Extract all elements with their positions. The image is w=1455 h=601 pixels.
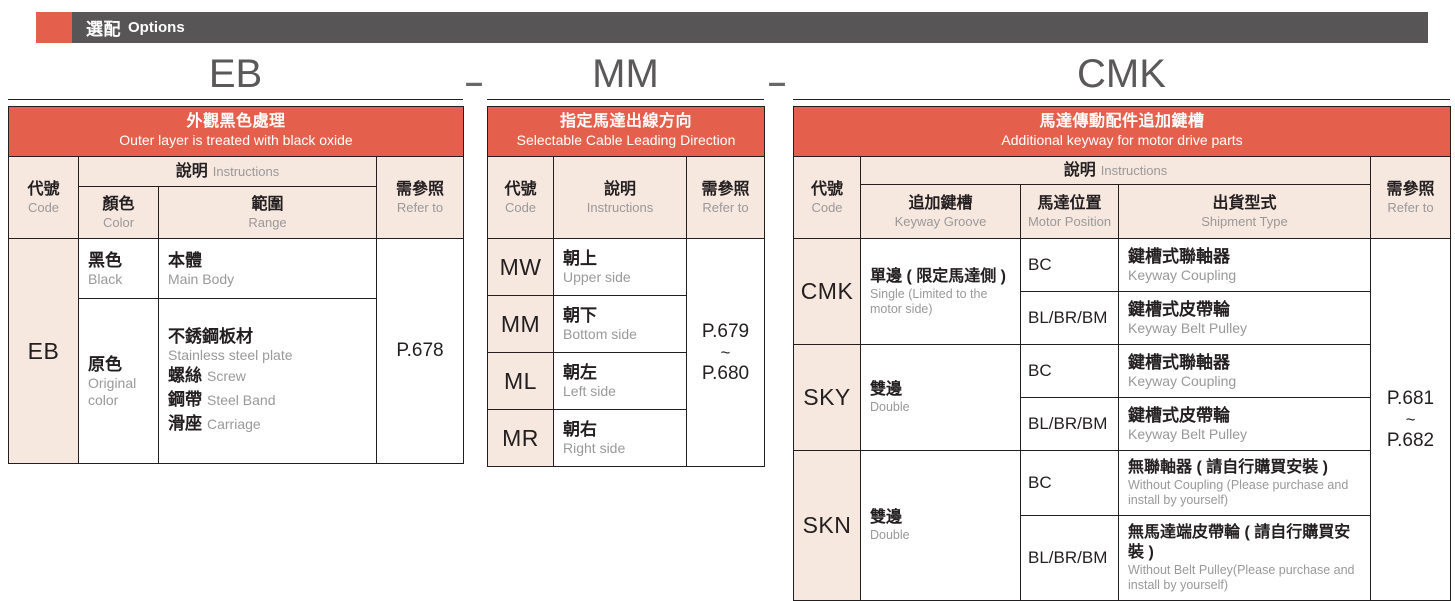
header-cmk-code-en: Code	[797, 200, 857, 216]
cell-cmk-shipment-3-2: 無馬達端皮帶輪 ( 請自行購買安裝 ) Without Belt Pulley(…	[1119, 516, 1371, 601]
header-eb-range: 範圍 Range	[159, 187, 377, 239]
header-cmk-shipment: 出貨型式 Shipment Type	[1119, 185, 1371, 239]
section-title-zh: 選配	[86, 15, 121, 40]
header-eb-instructions-en: Instructions	[213, 164, 279, 179]
cell-eb-range-2-en: Stainless steel plate	[168, 347, 367, 364]
header-mm-code-zh: 代號	[491, 180, 550, 200]
header-eb-range-en: Range	[162, 215, 373, 231]
table-mm-header-row: 代號 Code 說明 Instructions 需參照 Refer to	[488, 157, 765, 239]
table-eb-header-row-1: 代號 Code 說明Instructions 需參照 Refer to	[9, 157, 464, 187]
header-eb-refer: 需參照 Refer to	[377, 157, 464, 239]
cell-eb-range-1: 本體 Main Body	[159, 239, 377, 299]
cell-cmk-shipment-1-1: 鍵槽式聯軸器 Keyway Coupling	[1119, 239, 1371, 292]
header-eb-code-en: Code	[12, 200, 75, 216]
table-row: SKY 雙邊 Double BC 鍵槽式聯軸器 Keyway Coupling	[794, 345, 1451, 398]
cell-mm-refer-to: P.680	[702, 363, 749, 384]
code-title-mm: MM	[487, 50, 764, 98]
cell-cmk-motorpos-1-2: BL/BR/BM	[1021, 292, 1119, 345]
cell-mm-refer-tilde: ~	[687, 344, 764, 362]
table-eb: 外觀黑色處理 Outer layer is treated with black…	[8, 106, 464, 464]
table-mm-band-row: 指定馬達出線方向 Selectable Cable Leading Direct…	[488, 107, 765, 157]
table-mm-band-zh: 指定馬達出線方向	[492, 112, 760, 132]
header-cmk-shipment-en: Shipment Type	[1122, 214, 1367, 230]
cell-cmk-refer: P.681 ~ P.682	[1371, 239, 1451, 601]
code-title-cmk: CMK	[793, 50, 1450, 98]
table-mm-band-en: Selectable Cable Leading Direction	[492, 132, 760, 149]
cell-eb-color-2: 原色 Original color	[79, 299, 159, 464]
header-cmk-motor-position-zh: 馬達位置	[1024, 194, 1115, 214]
cell-cmk-refer-from: P.681	[1387, 388, 1434, 409]
cell-eb-color-1-en: Black	[88, 271, 149, 288]
header-mm-refer: 需參照 Refer to	[687, 157, 765, 239]
header-eb-color-zh: 顏色	[82, 195, 155, 215]
header-mm-instructions-en: Instructions	[557, 200, 683, 216]
cell-mm-refer-from: P.679	[702, 321, 749, 342]
code-title-underline-eb	[8, 99, 463, 100]
cell-cmk-motorpos-1-1: BC	[1021, 239, 1119, 292]
header-eb-code: 代號 Code	[9, 157, 79, 239]
table-mm: 指定馬達出線方向 Selectable Cable Leading Direct…	[487, 106, 765, 467]
header-eb-instructions-zh: 說明	[176, 163, 208, 180]
header-cmk-shipment-zh: 出貨型式	[1122, 194, 1367, 214]
cell-mm-code-3: ML	[488, 353, 554, 410]
table-cmk-band-en: Additional keyway for motor drive parts	[798, 132, 1446, 149]
header-eb-refer-en: Refer to	[380, 200, 460, 216]
header-mm-refer-zh: 需參照	[690, 180, 761, 200]
header-eb-color-en: Color	[82, 215, 155, 231]
header-mm-code: 代號 Code	[488, 157, 554, 239]
header-cmk-keyway: 追加鍵槽 Keyway Groove	[861, 185, 1021, 239]
code-separator-2: –	[766, 66, 788, 98]
table-row: CMK 單邊 ( 限定馬達側 ) Single (Limited to the …	[794, 239, 1451, 292]
cell-mm-code-2: MM	[488, 296, 554, 353]
cell-mm-desc-3: 朝左 Left side	[554, 353, 687, 410]
cell-eb-color-1-zh: 黑色	[88, 250, 149, 271]
cell-cmk-shipment-1-2: 鍵槽式皮帶輪 Keyway Belt Pulley	[1119, 292, 1371, 345]
code-title-eb: EB	[8, 50, 463, 98]
cell-cmk-shipment-3-1: 無聯軸器 ( 請自行購買安裝 ) Without Coupling (Pleas…	[1119, 451, 1371, 516]
section-title-bar: 選配 Options	[72, 12, 1428, 43]
cell-eb-color-1: 黑色 Black	[79, 239, 159, 299]
header-cmk-instructions-en: Instructions	[1101, 163, 1167, 178]
code-title-underline-mm	[487, 99, 764, 100]
table-eb-band-en: Outer layer is treated with black oxide	[13, 132, 459, 149]
header-mm-code-en: Code	[491, 200, 550, 216]
cell-cmk-motorpos-2-1: BC	[1021, 345, 1119, 398]
cell-eb-range-1-zh: 本體	[168, 250, 367, 271]
table-row: MW 朝上 Upper side P.679 ~ P.680	[488, 239, 765, 296]
table-cmk-band-row: 馬達傳動配件追加鍵槽 Additional keyway for motor d…	[794, 107, 1451, 157]
table-eb-band: 外觀黑色處理 Outer layer is treated with black…	[9, 107, 464, 157]
cell-cmk-refer-tilde: ~	[1371, 411, 1450, 429]
header-cmk-motor-position: 馬達位置 Motor Position	[1021, 185, 1119, 239]
header-cmk-keyway-zh: 追加鍵槽	[864, 194, 1017, 214]
section-title-en: Options	[128, 19, 185, 36]
cell-eb-range-2-item-1: 螺絲Screw	[168, 365, 367, 388]
table-cmk-header-row-1: 代號 Code 說明Instructions 需參照 Refer to	[794, 157, 1451, 185]
cell-cmk-refer-to: P.682	[1387, 430, 1434, 451]
table-cmk-band: 馬達傳動配件追加鍵槽 Additional keyway for motor d…	[794, 107, 1451, 157]
cell-eb-range-2-zh: 不銹鋼板材	[168, 326, 367, 347]
cell-cmk-shipment-2-2: 鍵槽式皮帶輪 Keyway Belt Pulley	[1119, 398, 1371, 451]
cell-mm-code-1: MW	[488, 239, 554, 296]
header-cmk-keyway-en: Keyway Groove	[864, 214, 1017, 230]
cell-cmk-shipment-2-1: 鍵槽式聯軸器 Keyway Coupling	[1119, 345, 1371, 398]
cell-mm-desc-1: 朝上 Upper side	[554, 239, 687, 296]
code-titles-row: EB – MM – CMK	[0, 50, 1455, 100]
cell-eb-range-1-en: Main Body	[168, 271, 367, 288]
cell-cmk-keyway-2: 雙邊 Double	[861, 345, 1021, 451]
cell-mm-refer: P.679 ~ P.680	[687, 239, 765, 467]
table-cmk-header-row-2: 追加鍵槽 Keyway Groove 馬達位置 Motor Position 出…	[794, 185, 1451, 239]
header-cmk-refer-zh: 需參照	[1374, 180, 1447, 200]
table-cmk-band-zh: 馬達傳動配件追加鍵槽	[798, 112, 1446, 132]
header-cmk-instructions-zh: 說明	[1064, 162, 1096, 179]
cell-mm-desc-4: 朝右 Right side	[554, 410, 687, 467]
header-eb-instructions: 說明Instructions	[79, 157, 377, 187]
cell-mm-code-4: MR	[488, 410, 554, 467]
cell-cmk-motorpos-3-1: BC	[1021, 451, 1119, 516]
table-cmk: 馬達傳動配件追加鍵槽 Additional keyway for motor d…	[793, 106, 1451, 601]
cell-cmk-motorpos-2-2: BL/BR/BM	[1021, 398, 1119, 451]
header-mm-instructions-zh: 說明	[557, 180, 683, 200]
table-row: SKN 雙邊 Double BC 無聯軸器 ( 請自行購買安裝 ) Withou…	[794, 451, 1451, 516]
header-cmk-refer-en: Refer to	[1374, 200, 1447, 216]
code-title-underline-cmk	[793, 99, 1450, 100]
table-eb-band-zh: 外觀黑色處理	[13, 112, 459, 132]
header-cmk-instructions: 說明Instructions	[861, 157, 1371, 185]
cell-cmk-code-3: SKN	[794, 451, 861, 601]
header-cmk-code: 代號 Code	[794, 157, 861, 239]
cell-eb-color-2-zh: 原色	[88, 354, 149, 375]
cell-cmk-motorpos-3-2: BL/BR/BM	[1021, 516, 1119, 601]
cell-eb-code: EB	[9, 239, 79, 464]
cell-eb-color-2-en: Original color	[88, 375, 149, 409]
cell-eb-range-2-item-3: 滑座Carriage	[168, 413, 367, 436]
table-eb-band-row: 外觀黑色處理 Outer layer is treated with black…	[9, 107, 464, 157]
header-mm-instructions: 說明 Instructions	[554, 157, 687, 239]
header-cmk-refer: 需參照 Refer to	[1371, 157, 1451, 239]
cell-eb-range-2: 不銹鋼板材 Stainless steel plate 螺絲Screw 鋼帶St…	[159, 299, 377, 464]
section-header-bar: 選配 Options	[36, 12, 1428, 43]
header-eb-refer-zh: 需參照	[380, 180, 460, 200]
header-cmk-code-zh: 代號	[797, 180, 857, 200]
cell-mm-desc-2: 朝下 Bottom side	[554, 296, 687, 353]
cell-cmk-keyway-3: 雙邊 Double	[861, 451, 1021, 601]
cell-eb-refer: P.678	[377, 239, 464, 464]
code-separator-1: –	[463, 66, 485, 98]
header-eb-code-zh: 代號	[12, 180, 75, 200]
section-accent-block	[36, 12, 72, 43]
cell-eb-range-2-item-2: 鋼帶Steel Band	[168, 389, 367, 412]
header-mm-refer-en: Refer to	[690, 200, 761, 216]
header-eb-color: 顏色 Color	[79, 187, 159, 239]
table-mm-band: 指定馬達出線方向 Selectable Cable Leading Direct…	[488, 107, 765, 157]
header-eb-range-zh: 範圍	[162, 195, 373, 215]
header-cmk-motor-position-en: Motor Position	[1024, 214, 1115, 230]
cell-cmk-code-2: SKY	[794, 345, 861, 451]
cell-cmk-code-1: CMK	[794, 239, 861, 345]
cell-cmk-keyway-1: 單邊 ( 限定馬達側 ) Single (Limited to the moto…	[861, 239, 1021, 345]
table-row: EB 黑色 Black 本體 Main Body P.678	[9, 239, 464, 299]
